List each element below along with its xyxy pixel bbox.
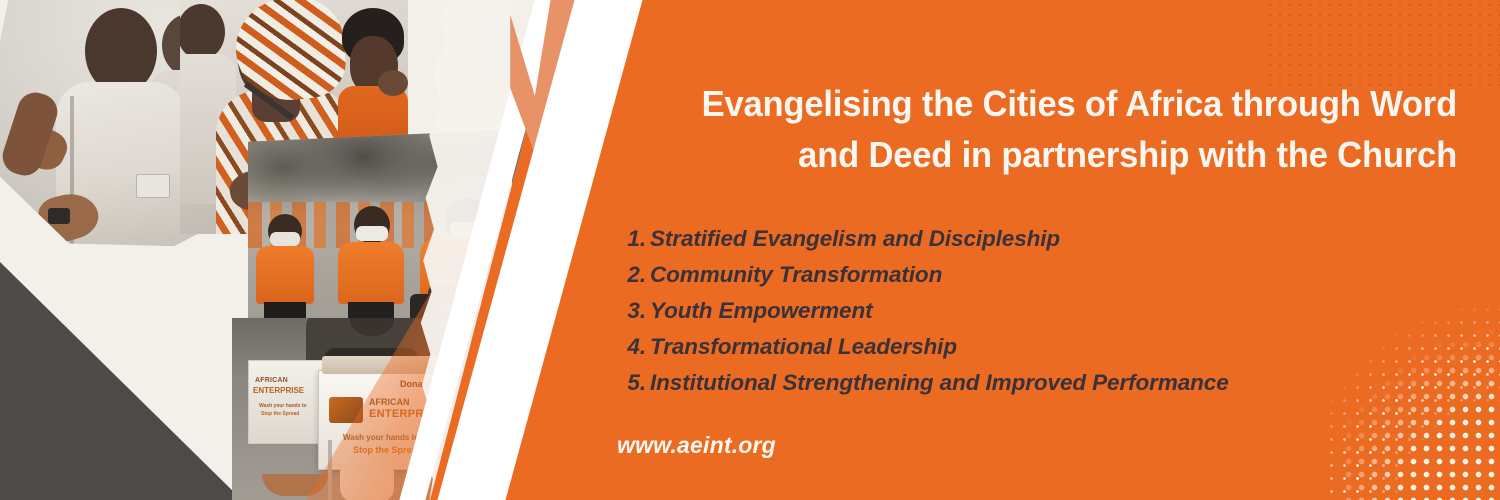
list-item-number: 2.	[610, 262, 646, 288]
website-url[interactable]: www.aeint.org	[617, 432, 776, 459]
handwash-box-left: AFRICAN ENTERPRISE Wash your hands to St…	[248, 360, 326, 444]
list-item: 4. Transformational Leadership	[610, 334, 1310, 370]
pillars-list: 1. Stratified Evangelism and Discipleshi…	[610, 226, 1310, 406]
dot-grid-pattern-icon	[1265, 0, 1500, 88]
content-panel: Evangelising the Cities of Africa throug…	[600, 0, 1500, 500]
face-mask	[270, 232, 300, 246]
name-badge	[136, 174, 170, 198]
list-item-number: 3.	[610, 298, 646, 324]
list-item-label: Stratified Evangelism and Discipleship	[646, 226, 1060, 252]
list-item: 2. Community Transformation	[610, 262, 1310, 298]
list-item: 3. Youth Empowerment	[610, 298, 1310, 334]
page-title: Evangelising the Cities of Africa throug…	[677, 78, 1457, 180]
list-item: 5. Institutional Strengthening and Impro…	[610, 370, 1310, 406]
list-item: 1. Stratified Evangelism and Discipleshi…	[610, 226, 1310, 262]
african-enterprise-banner: AFRICAN ENTERPRISE Wash your hands to St…	[0, 0, 1500, 500]
wristwatch	[48, 208, 70, 224]
list-item-number: 5.	[610, 370, 646, 396]
list-item-label: Youth Empowerment	[646, 298, 872, 324]
list-item-number: 4.	[610, 334, 646, 360]
list-item-label: Community Transformation	[646, 262, 942, 288]
face-mask	[356, 226, 388, 241]
halftone-arc-fade-icon	[1330, 270, 1500, 500]
list-item-number: 1.	[610, 226, 646, 252]
list-item-label: Institutional Strengthening and Improved…	[646, 370, 1229, 396]
list-item-label: Transformational Leadership	[646, 334, 957, 360]
